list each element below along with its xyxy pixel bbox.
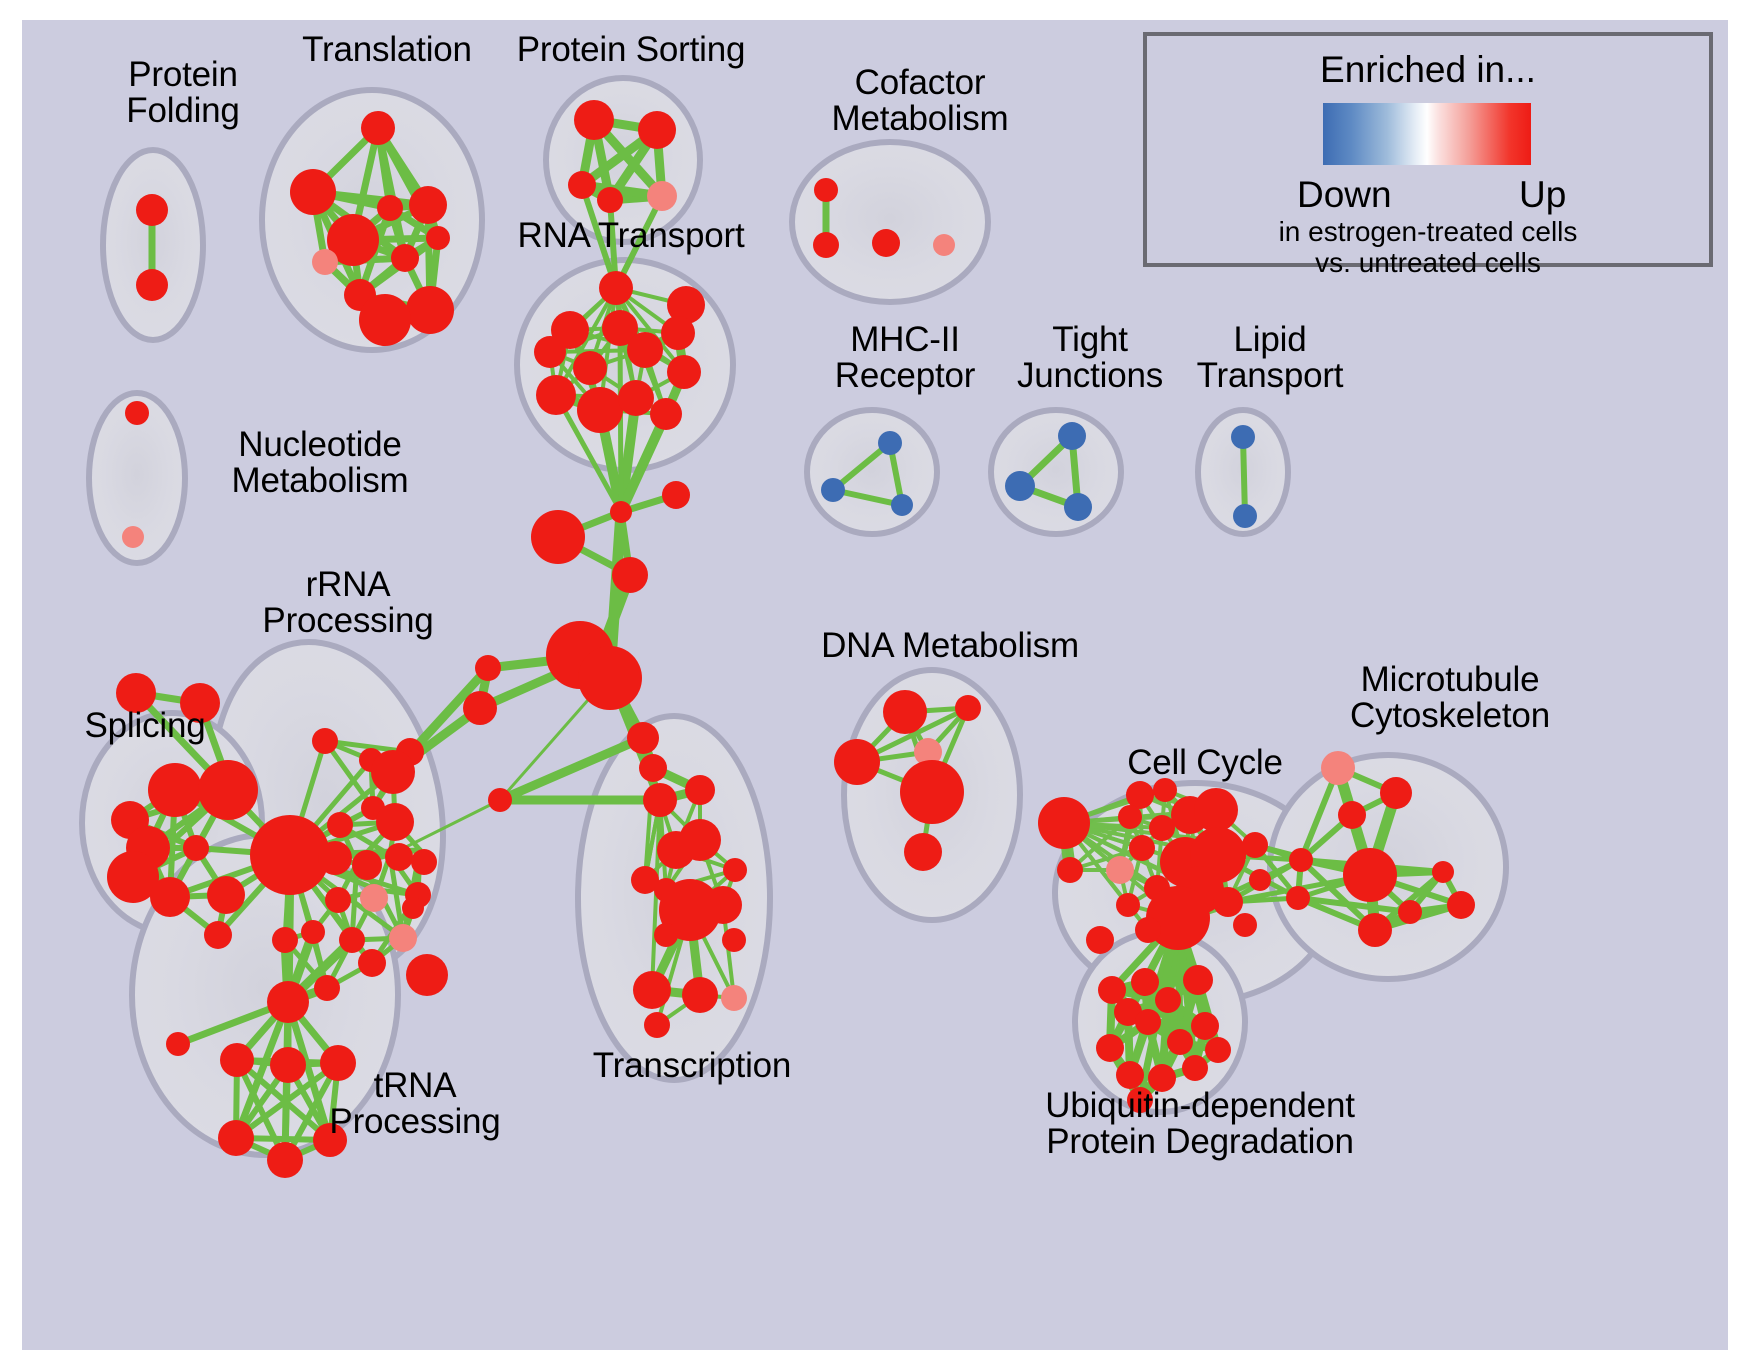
- node: [534, 336, 566, 368]
- node: [488, 788, 512, 812]
- node: [1432, 861, 1454, 883]
- node: [610, 501, 632, 523]
- legend-subtitle: in estrogen-treated cells vs. untreated …: [1147, 216, 1709, 279]
- node: [599, 271, 633, 305]
- node: [352, 850, 382, 880]
- node: [682, 977, 718, 1013]
- node: [627, 332, 663, 368]
- node: [136, 194, 168, 226]
- node: [1289, 848, 1313, 872]
- node: [220, 1043, 254, 1077]
- node: [639, 754, 667, 782]
- node: [377, 195, 403, 221]
- node: [409, 186, 447, 224]
- node: [426, 226, 450, 250]
- node: [647, 181, 677, 211]
- node: [900, 760, 964, 824]
- node: [1131, 968, 1159, 996]
- node: [359, 294, 411, 346]
- legend-title: Enriched in...: [1147, 49, 1709, 91]
- node: [650, 398, 682, 430]
- node: [531, 510, 585, 564]
- node: [834, 739, 880, 785]
- node: [721, 985, 747, 1011]
- node: [679, 819, 721, 861]
- node: [1153, 778, 1177, 802]
- node: [643, 783, 677, 817]
- node: [872, 229, 900, 257]
- node: [1249, 869, 1271, 891]
- legend-color-gradient: [1323, 103, 1531, 165]
- node: [272, 927, 298, 953]
- node: [1183, 965, 1213, 995]
- node: [821, 478, 845, 502]
- node: [183, 835, 209, 861]
- node: [1286, 886, 1310, 910]
- node: [1167, 1029, 1193, 1055]
- node: [597, 187, 623, 213]
- node: [361, 111, 395, 145]
- node: [1064, 493, 1092, 521]
- node: [1086, 926, 1114, 954]
- node: [1058, 422, 1086, 450]
- node: [267, 1142, 303, 1178]
- node: [638, 111, 676, 149]
- node: [1182, 1055, 1208, 1081]
- hull-tight-junctions: [991, 410, 1121, 534]
- node: [411, 849, 437, 875]
- node: [406, 954, 448, 996]
- node: [312, 249, 338, 275]
- node: [1338, 801, 1366, 829]
- node: [661, 316, 695, 350]
- node: [1096, 1034, 1124, 1062]
- node: [1127, 1087, 1153, 1113]
- node: [1213, 887, 1243, 917]
- enrichment-map-figure: Protein Folding Translation Protein Sort…: [0, 0, 1750, 1360]
- node: [1116, 893, 1140, 917]
- node: [318, 841, 352, 875]
- node: [644, 1012, 670, 1038]
- node: [1126, 781, 1154, 809]
- node: [1358, 913, 1392, 947]
- node: [891, 494, 913, 516]
- node: [376, 803, 414, 841]
- node: [389, 924, 417, 952]
- node: [1135, 917, 1161, 943]
- node: [627, 722, 659, 754]
- node: [270, 1047, 306, 1083]
- node: [1057, 857, 1083, 883]
- node: [1155, 987, 1181, 1013]
- node: [1380, 777, 1412, 809]
- node: [475, 655, 501, 681]
- node: [1149, 815, 1175, 841]
- node: [955, 695, 981, 721]
- legend-high-label: Up: [1519, 174, 1566, 216]
- node: [1233, 504, 1257, 528]
- node: [1129, 835, 1155, 861]
- node: [406, 286, 454, 334]
- node: [360, 884, 388, 912]
- node: [1005, 471, 1035, 501]
- node: [116, 673, 156, 713]
- node: [1038, 797, 1090, 849]
- node: [148, 763, 202, 817]
- node: [1343, 848, 1397, 902]
- node: [391, 244, 419, 272]
- node: [180, 683, 220, 723]
- node: [1321, 751, 1355, 785]
- node: [685, 775, 715, 805]
- node: [667, 355, 701, 389]
- node: [218, 1120, 254, 1156]
- node: [327, 812, 353, 838]
- node: [1194, 788, 1238, 832]
- legend-panel: Enriched in... Down Up in estrogen-treat…: [1143, 32, 1713, 267]
- node: [385, 843, 413, 871]
- node: [1242, 832, 1268, 858]
- node: [574, 100, 614, 140]
- node: [813, 232, 839, 258]
- node: [662, 481, 690, 509]
- node: [207, 876, 245, 914]
- node: [904, 833, 942, 871]
- hull-cofactor: [792, 142, 988, 302]
- node: [618, 380, 654, 416]
- node: [1231, 425, 1255, 449]
- node: [578, 646, 642, 710]
- node: [250, 815, 330, 895]
- node: [150, 877, 190, 917]
- node: [371, 750, 415, 794]
- node: [402, 897, 424, 919]
- node: [814, 178, 838, 202]
- node: [722, 928, 746, 952]
- node: [339, 927, 365, 953]
- node: [633, 971, 671, 1009]
- node: [1116, 1061, 1144, 1089]
- node: [313, 1123, 347, 1157]
- node: [463, 691, 497, 725]
- node: [536, 375, 576, 415]
- node: [204, 921, 232, 949]
- node: [325, 887, 351, 913]
- node: [136, 269, 168, 301]
- node: [358, 949, 386, 977]
- node: [612, 557, 648, 593]
- node: [573, 351, 607, 385]
- node: [1398, 900, 1422, 924]
- node: [198, 760, 258, 820]
- node: [314, 975, 340, 1001]
- node: [267, 981, 309, 1023]
- node: [723, 858, 747, 882]
- node: [320, 1045, 356, 1081]
- node: [1205, 1037, 1231, 1063]
- node: [568, 171, 596, 199]
- node: [933, 234, 955, 256]
- node: [883, 690, 927, 734]
- node: [1135, 1009, 1161, 1035]
- legend-low-label: Down: [1297, 174, 1392, 216]
- node: [654, 923, 678, 947]
- node: [1106, 856, 1134, 884]
- node: [1233, 913, 1257, 937]
- node: [1191, 1012, 1219, 1040]
- node: [577, 387, 623, 433]
- node: [125, 401, 149, 425]
- node: [166, 1032, 190, 1056]
- node: [1447, 891, 1475, 919]
- node: [290, 169, 336, 215]
- node: [122, 526, 144, 548]
- node: [1148, 1064, 1176, 1092]
- node: [1118, 805, 1142, 829]
- node: [878, 431, 902, 455]
- node: [301, 920, 325, 944]
- hull-mhc-ii: [807, 410, 937, 534]
- node: [312, 728, 338, 754]
